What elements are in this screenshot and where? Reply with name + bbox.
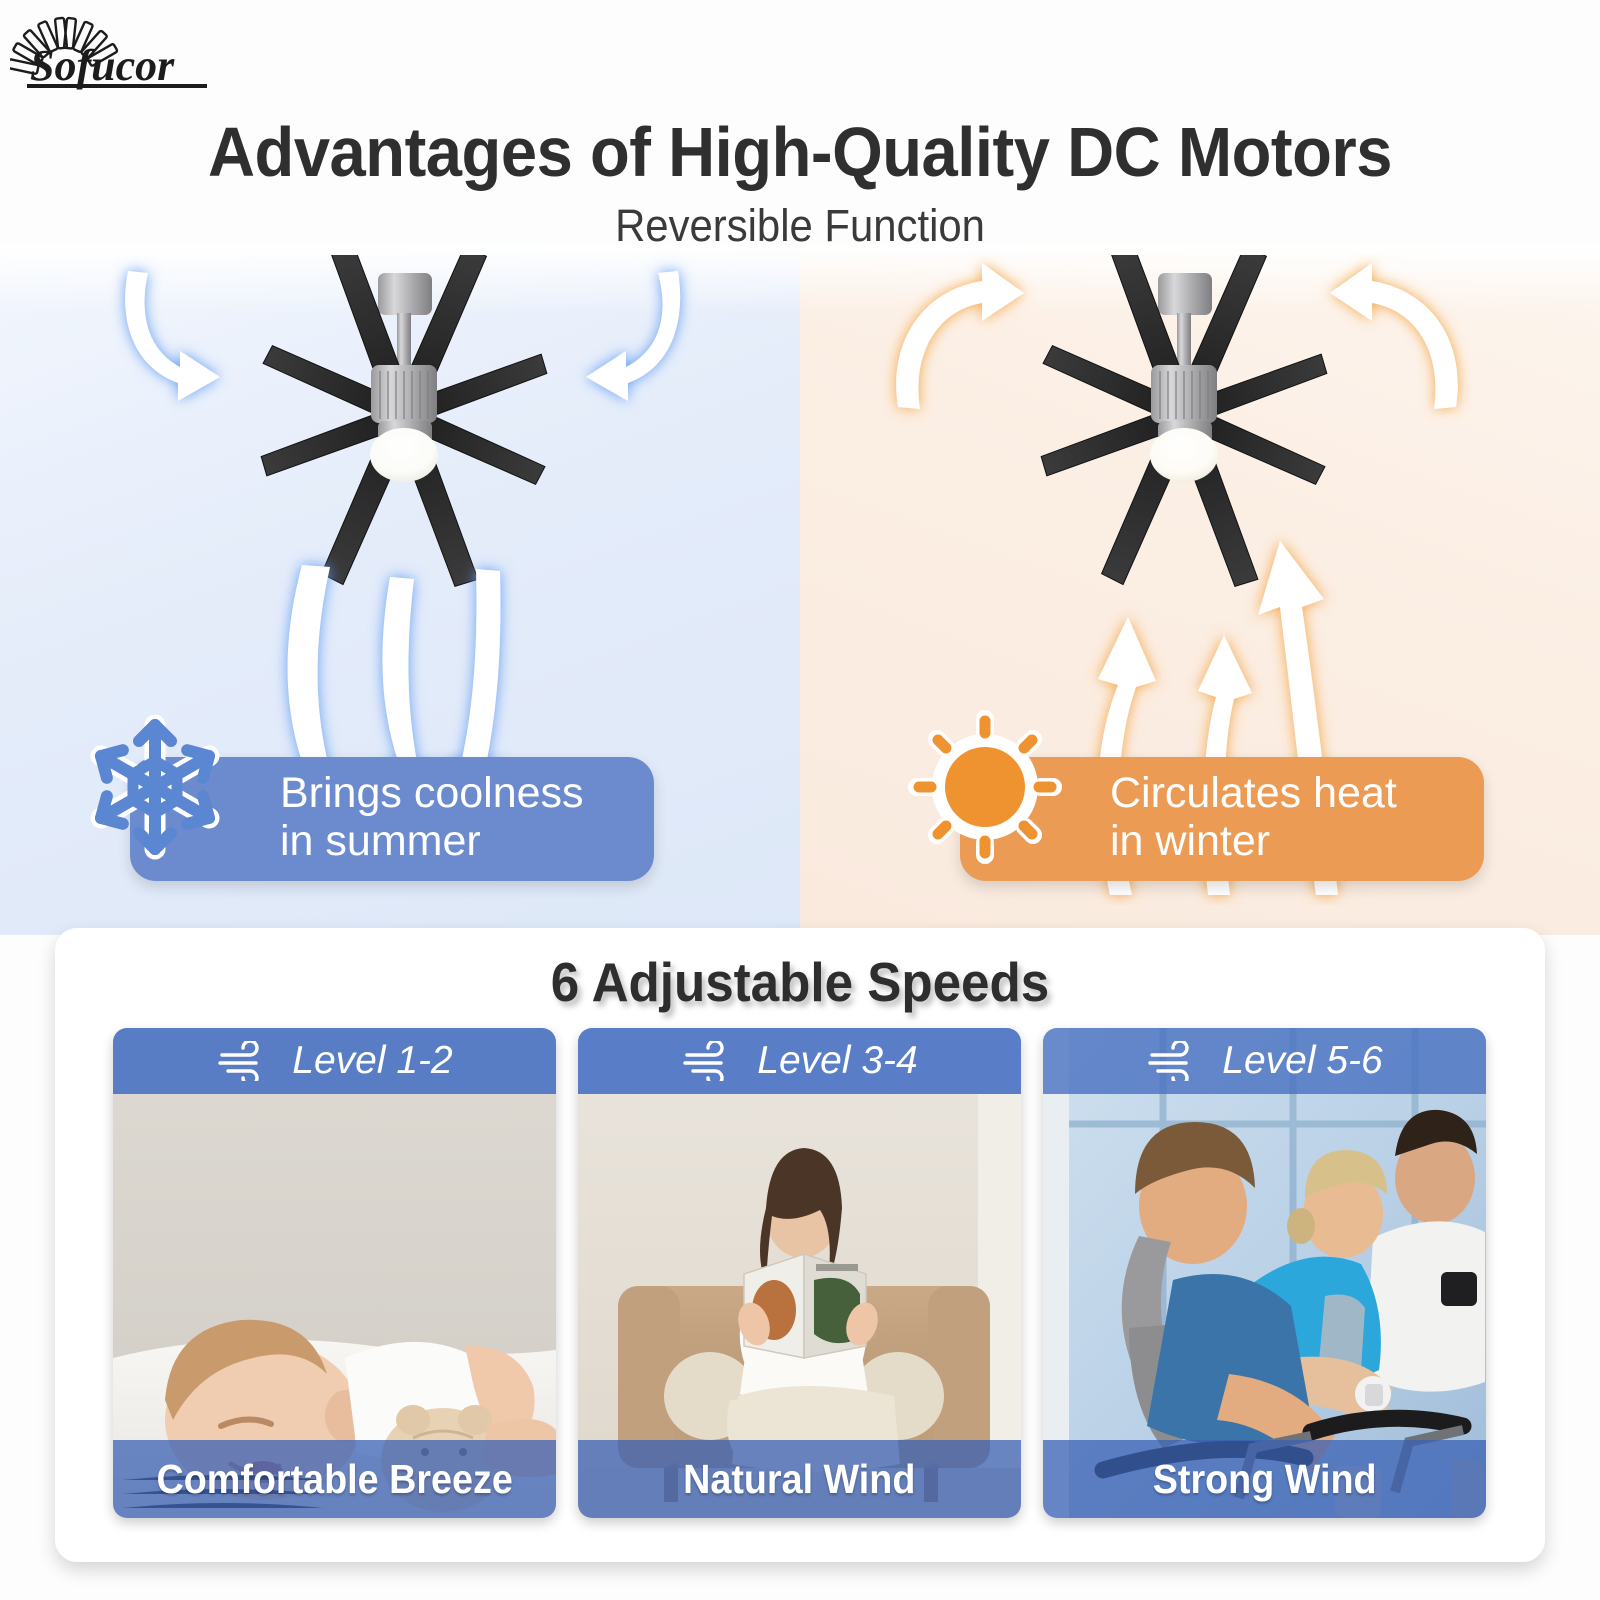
mode-badge-winter-label: Circulates heat in winter	[1110, 769, 1397, 865]
card-caption-bar: Strong Wind	[1043, 1440, 1486, 1518]
snowflake-icon	[75, 707, 235, 867]
speed-card[interactable]: Level 1-2 Comfortable Breeze	[113, 1028, 556, 1518]
page-title: Advantages of High-Quality DC Motors	[56, 112, 1544, 192]
card-caption: Natural Wind	[683, 1456, 915, 1503]
level-label: Level 5-6	[1222, 1039, 1382, 1083]
speed-card-list: Level 1-2 Comfortable Breeze	[113, 1028, 1487, 1518]
ceiling-fan-winter	[810, 255, 1570, 685]
brand-logo: Sofucor	[10, 8, 240, 100]
card-caption: Strong Wind	[1153, 1456, 1377, 1503]
wind-icon	[681, 1041, 741, 1081]
wind-icon	[216, 1041, 276, 1081]
mode-badge-summer: Brings coolness in summer	[130, 757, 654, 881]
speeds-section-title: 6 Adjustable Speeds	[107, 950, 1493, 1014]
mode-badge-summer-label: Brings coolness in summer	[280, 769, 584, 865]
card-caption: Comfortable Breeze	[156, 1456, 512, 1503]
page-subtitle: Reversible Function	[56, 200, 1544, 252]
level-label: Level 1-2	[292, 1039, 452, 1083]
adjustable-speeds-panel: 6 Adjustable Speeds	[55, 928, 1545, 1562]
infographic-root: Sofucor Advantages of High-Quality DC Mo…	[0, 0, 1600, 1600]
mode-badge-winter: Circulates heat in winter	[960, 757, 1484, 881]
wind-icon	[1146, 1041, 1206, 1081]
speed-card[interactable]: Level 3-4 Natural Wind	[578, 1028, 1021, 1518]
level-label: Level 3-4	[757, 1039, 917, 1083]
level-header-bar: Level 1-2	[113, 1028, 556, 1094]
level-header-bar: Level 3-4	[578, 1028, 1021, 1094]
card-caption-bar: Comfortable Breeze	[113, 1440, 556, 1518]
speed-card[interactable]: Level 5-6 Strong Wind	[1043, 1028, 1486, 1518]
level-header-bar: Level 5-6	[1043, 1028, 1486, 1094]
card-caption-bar: Natural Wind	[578, 1440, 1021, 1518]
brand-logo-text: Sofucor	[30, 41, 175, 90]
sun-icon	[905, 707, 1065, 867]
ceiling-fan-summer	[30, 255, 790, 685]
